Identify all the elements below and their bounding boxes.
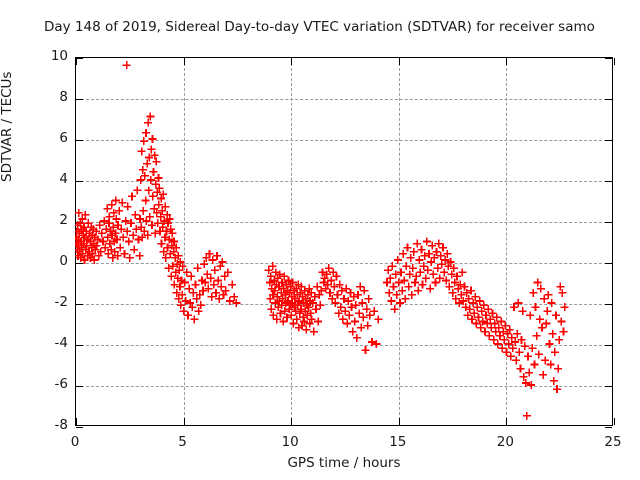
- gridline-horizontal: [76, 181, 612, 182]
- tick-mark-y: [76, 140, 83, 141]
- x-axis-title: GPS time / hours: [75, 455, 613, 471]
- plot-area: [75, 57, 613, 426]
- tick-mark-y: [76, 181, 83, 182]
- tick-mark-y: [76, 222, 83, 223]
- tick-mark-x-top: [291, 58, 292, 65]
- tick-mark-x-top: [76, 58, 77, 65]
- y-tick-label: -6: [20, 376, 68, 392]
- y-axis-title: SDTVAR / TECUs: [0, 2, 15, 182]
- tick-mark-x: [184, 418, 185, 425]
- tick-mark-x-top: [399, 58, 400, 65]
- tick-mark-x: [614, 418, 615, 425]
- tick-mark-y: [76, 427, 83, 428]
- tick-mark-x-top: [184, 58, 185, 65]
- tick-mark-y: [76, 345, 83, 346]
- gridline-vertical: [291, 58, 292, 425]
- tick-mark-y: [76, 304, 83, 305]
- y-tick-label: 0: [20, 253, 68, 269]
- tick-mark-y: [76, 99, 83, 100]
- tick-mark-y: [76, 58, 83, 59]
- gridline-horizontal: [76, 263, 612, 264]
- tick-mark-y-right: [605, 181, 612, 182]
- y-tick-label: 4: [20, 171, 68, 187]
- tick-mark-y-right: [605, 304, 612, 305]
- gridline-horizontal: [76, 345, 612, 346]
- y-tick-label: -2: [20, 294, 68, 310]
- tick-mark-y-right: [605, 222, 612, 223]
- gridline-vertical: [506, 58, 507, 425]
- x-tick-label: 10: [260, 434, 320, 450]
- gridline-horizontal: [76, 222, 612, 223]
- chart-root: Day 148 of 2019, Sidereal Day-to-day VTE…: [0, 0, 640, 480]
- gridline-horizontal: [76, 386, 612, 387]
- gridline-vertical: [184, 58, 185, 425]
- y-tick-label: 8: [20, 89, 68, 105]
- tick-mark-x-top: [506, 58, 507, 65]
- x-tick-label: 25: [583, 434, 640, 450]
- x-tick-label: 0: [45, 434, 105, 450]
- gridline-horizontal: [76, 304, 612, 305]
- tick-mark-x: [399, 418, 400, 425]
- tick-mark-x: [506, 418, 507, 425]
- tick-mark-y: [76, 386, 83, 387]
- tick-mark-y-right: [605, 58, 612, 59]
- tick-mark-y-right: [605, 99, 612, 100]
- y-tick-label: 2: [20, 212, 68, 228]
- tick-mark-x: [291, 418, 292, 425]
- tick-mark-y-right: [605, 263, 612, 264]
- chart-title: Day 148 of 2019, Sidereal Day-to-day VTE…: [44, 19, 595, 35]
- y-tick-label: 10: [20, 48, 68, 64]
- tick-mark-y-right: [605, 140, 612, 141]
- tick-mark-y-right: [605, 386, 612, 387]
- tick-mark-x-top: [614, 58, 615, 65]
- y-tick-label: -8: [20, 417, 68, 433]
- y-tick-label: 6: [20, 130, 68, 146]
- gridline-horizontal: [76, 140, 612, 141]
- gridline-vertical: [399, 58, 400, 425]
- tick-mark-y: [76, 263, 83, 264]
- y-tick-label: -4: [20, 335, 68, 351]
- x-tick-label: 5: [153, 434, 213, 450]
- gridline-horizontal: [76, 99, 612, 100]
- tick-mark-x: [76, 418, 77, 425]
- x-tick-label: 15: [368, 434, 428, 450]
- tick-mark-y-right: [605, 427, 612, 428]
- x-tick-label: 20: [475, 434, 535, 450]
- tick-mark-y-right: [605, 345, 612, 346]
